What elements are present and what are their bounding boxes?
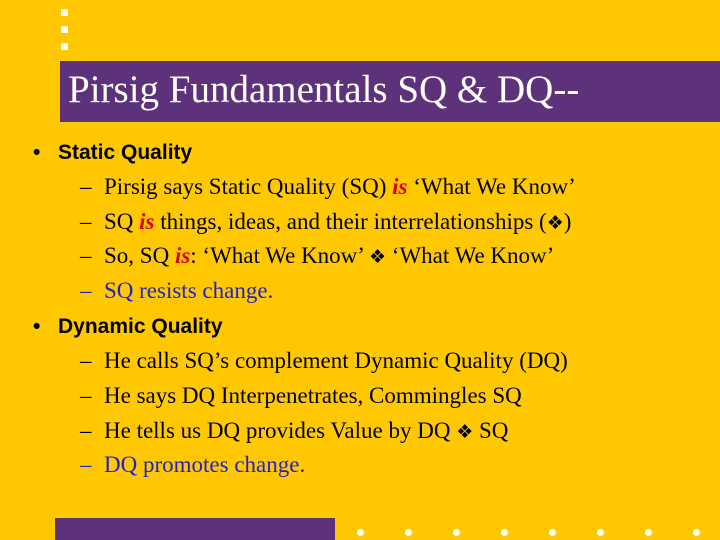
decorative-dot [597,529,604,536]
text-run: So, SQ [104,243,175,268]
sub-bullet-text: So, SQ is: ‘What We Know’ ❖ ‘What We Kno… [104,243,554,268]
text-run: things, ideas, and their interrelationsh… [155,209,547,234]
decorative-dot [61,26,68,33]
diamond-symbol-icon: ❖ [547,212,564,234]
dash-marker-icon: – [80,448,92,483]
text-run: : ‘What We Know’ [190,243,369,268]
sub-bullet-item: – He calls SQ’s complement Dynamic Quali… [0,344,720,379]
dash-marker-icon: – [80,205,92,240]
sub-bullet-item: – He tells us DQ provides Value by DQ ❖ … [0,414,720,449]
decorative-dot [405,529,412,536]
sub-bullet-item: – Pirsig says Static Quality (SQ) is ‘Wh… [0,170,720,205]
text-run: SQ [104,209,139,234]
text-run: ‘What We Know’ [386,243,554,268]
sub-bullet-item-highlight: – SQ resists change. [0,274,720,309]
sub-bullet-text: He tells us DQ provides Value by DQ ❖ SQ [104,418,508,443]
emphasis-text: is [139,209,154,234]
decorative-dot [501,529,508,536]
text-run: He calls SQ’s complement Dynamic Quality… [104,348,568,373]
sub-bullet-item-highlight: – DQ promotes change. [0,448,720,483]
text-run: DQ promotes change. [104,452,305,477]
text-run: He says DQ Interpenetrates, Commingles S… [104,383,522,408]
slide-body: • Static Quality – Pirsig says Static Qu… [0,136,720,483]
decorative-dot [693,529,700,536]
decorative-dot [453,529,460,536]
bullet-heading-static-quality: • Static Quality [0,136,720,170]
top-dot-decoration [61,7,71,62]
bullet-heading-dynamic-quality: • Dynamic Quality [0,310,720,344]
diamond-symbol-icon: ❖ [456,421,473,443]
sub-bullet-text: Pirsig says Static Quality (SQ) is ‘What… [104,174,576,199]
diamond-symbol-icon: ❖ [369,246,386,268]
emphasis-text: is [392,174,407,199]
sub-bullet-text: DQ promotes change. [104,452,305,477]
decorative-dot [357,529,364,536]
sub-bullet-item: – So, SQ is: ‘What We Know’ ❖ ‘What We K… [0,239,720,274]
decorative-dot [61,43,68,50]
sub-bullet-text: SQ is things, ideas, and their interrela… [104,209,571,234]
dash-marker-icon: – [80,344,92,379]
dash-marker-icon: – [80,274,92,309]
page-title: Pirsig Fundamentals SQ & DQ-- [68,59,718,120]
bullet-heading-label: Dynamic Quality [58,315,223,338]
text-run: SQ resists change. [104,278,273,303]
sub-bullet-text: He says DQ Interpenetrates, Commingles S… [104,383,522,408]
decorative-dot [645,529,652,536]
bullet-marker-icon: • [33,136,40,170]
dash-marker-icon: – [80,239,92,274]
sub-bullet-text: He calls SQ’s complement Dynamic Quality… [104,348,568,373]
sub-bullet-item: – He says DQ Interpenetrates, Commingles… [0,379,720,414]
text-run: Pirsig says Static Quality (SQ) [104,174,392,199]
text-run: ) [564,209,572,234]
sub-bullet-item: – SQ is things, ideas, and their interre… [0,205,720,240]
text-run: ‘What We Know’ [407,174,575,199]
footer-dot-decoration [0,529,720,539]
sub-bullet-text: SQ resists change. [104,278,273,303]
bullet-marker-icon: • [33,310,40,344]
text-run: He tells us DQ provides Value by DQ [104,418,456,443]
title-banner: Pirsig Fundamentals SQ & DQ-- [60,61,720,122]
slide-canvas: Pirsig Fundamentals SQ & DQ-- • Static Q… [0,0,720,540]
decorative-dot [549,529,556,536]
dash-marker-icon: – [80,414,92,449]
text-run: SQ [473,418,508,443]
dash-marker-icon: – [80,170,92,205]
dash-marker-icon: – [80,379,92,414]
decorative-dot [61,9,68,16]
emphasis-text: is [175,243,190,268]
bullet-heading-label: Static Quality [58,141,192,164]
